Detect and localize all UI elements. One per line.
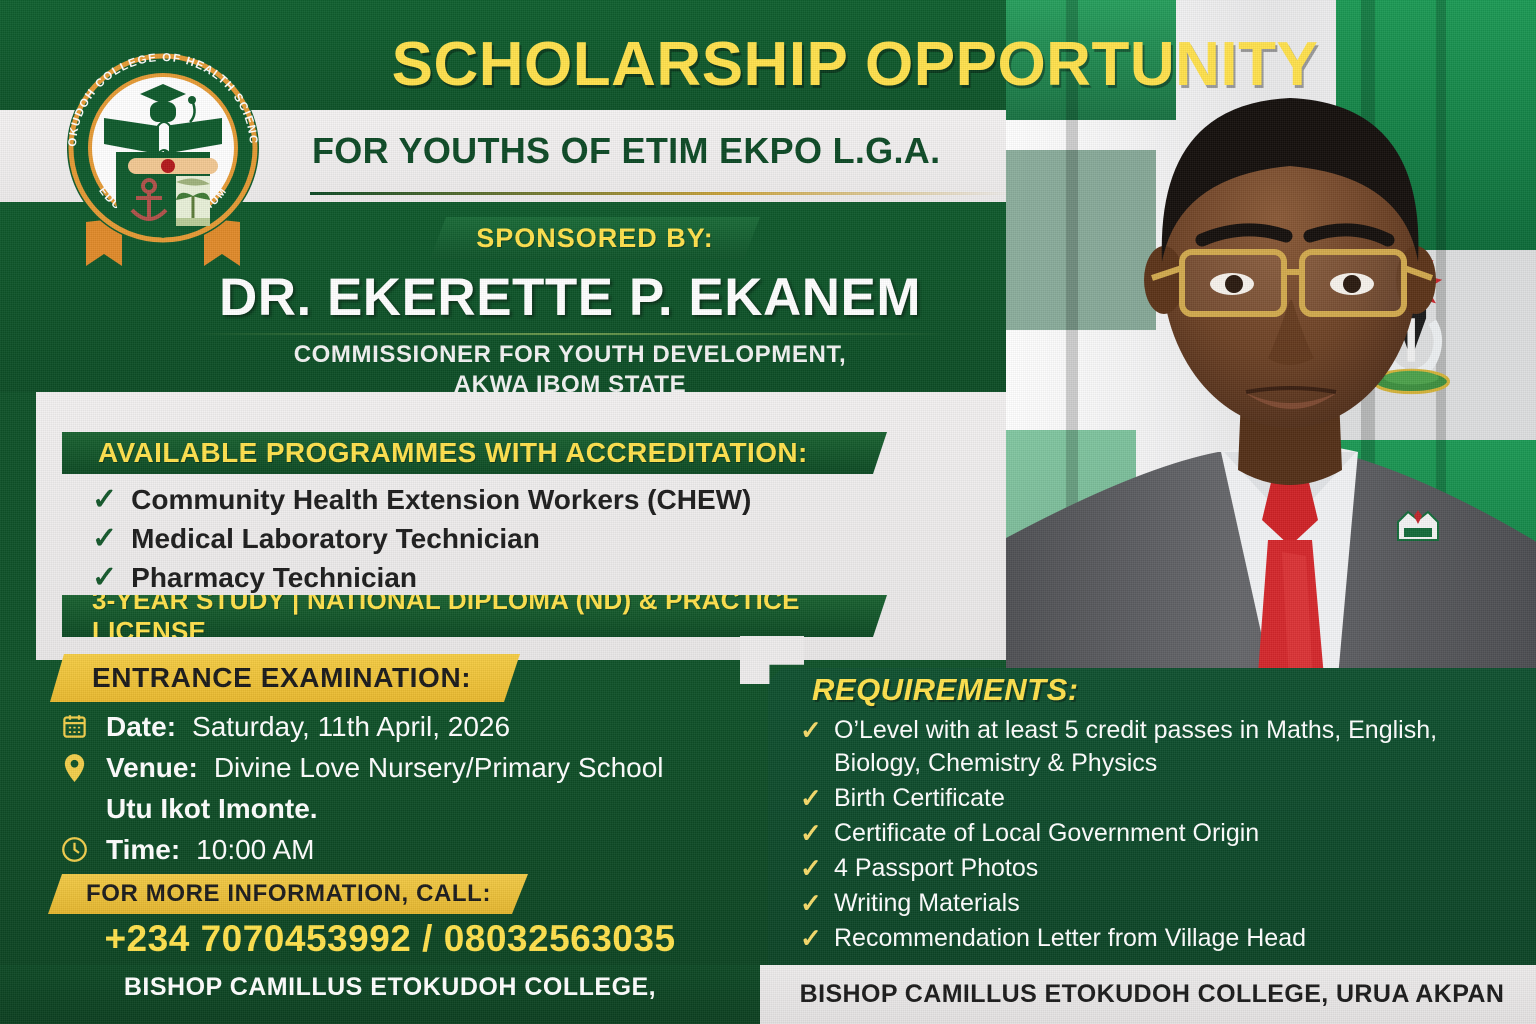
sponsor-role: COMMISSIONER FOR YOUTH DEVELOPMENT, AKWA… <box>110 340 1030 400</box>
programmes-heading: AVAILABLE PROGRAMMES WITH ACCREDITATION: <box>62 432 887 474</box>
requirement-label: Birth Certificate <box>834 782 1005 815</box>
exam-time-value: 10:00 AM <box>196 829 314 870</box>
exam-date-row: Date: Saturday, 11th April, 2026 <box>58 706 778 747</box>
college-name-right: BISHOP CAMILLUS ETOKUDOH COLLEGE, URUA A… <box>768 965 1536 1024</box>
list-item: ✓ O’Level with at least 5 credit passes … <box>800 714 1520 780</box>
list-item: ✓ Pharmacy Technician <box>92 558 892 597</box>
exam-venue-row: Venue: Divine Love Nursery/Primary Schoo… <box>58 747 778 788</box>
programmes-footer: 3-YEAR STUDY | NATIONAL DIPLOMA (ND) & P… <box>62 595 887 637</box>
list-item: ✓ 4 Passport Photos <box>800 852 1520 885</box>
exam-date-label: Date: <box>106 706 176 747</box>
check-icon: ✓ <box>800 782 822 815</box>
requirements-heading: REQUIREMENTS: <box>812 672 1079 708</box>
list-item: ✓ Writing Materials <box>800 887 1520 920</box>
exam-venue-value-line2: Utu Ikot Imonte. <box>58 788 778 829</box>
check-icon: ✓ <box>800 922 822 955</box>
sponsored-by-label: SPONSORED BY: <box>430 217 760 259</box>
location-pin-icon <box>58 747 90 788</box>
programme-label: Pharmacy Technician <box>131 562 417 594</box>
entrance-exam-heading: ENTRANCE EXAMINATION: <box>50 654 520 702</box>
check-icon: ✓ <box>92 524 117 554</box>
requirement-label: O’Level with at least 5 credit passes in… <box>834 714 1520 780</box>
exam-date-value: Saturday, 11th April, 2026 <box>192 706 510 747</box>
list-item: ✓ Birth Certificate <box>800 782 1520 815</box>
exam-venue-label: Venue: <box>106 747 198 788</box>
exam-venue-value: Divine Love Nursery/Primary School <box>214 747 664 788</box>
sponsor-role-line2: AKWA IBOM STATE <box>110 370 1030 400</box>
list-item: ✓ Recommendation Letter from Village Hea… <box>800 922 1520 955</box>
scholarship-poster: BISHOP CAMILLUS ETOKUDOH COLLEGE OF HEAL… <box>0 0 1536 1024</box>
contact-phone-numbers: +234 7070453992 / 08032563035 <box>40 918 740 960</box>
exam-time-row: Time: 10:00 AM <box>58 829 778 870</box>
requirement-label: 4 Passport Photos <box>834 852 1038 885</box>
requirement-label: Writing Materials <box>834 887 1020 920</box>
check-icon: ✓ <box>800 714 822 747</box>
list-item: ✓ Certificate of Local Government Origin <box>800 817 1520 850</box>
programmes-list: ✓ Community Health Extension Workers (CH… <box>92 480 892 597</box>
requirement-label: Recommendation Letter from Village Head <box>834 922 1306 955</box>
requirements-list: ✓ O’Level with at least 5 credit passes … <box>800 714 1520 957</box>
exam-time-label: Time: <box>106 829 180 870</box>
check-icon: ✓ <box>800 817 822 850</box>
programme-label: Community Health Extension Workers (CHEW… <box>131 484 751 516</box>
check-icon: ✓ <box>800 887 822 920</box>
contact-heading: FOR MORE INFORMATION, CALL: <box>48 874 528 914</box>
page-title: SCHOLARSHIP OPPORTUNITY <box>300 22 1410 108</box>
check-icon: ✓ <box>92 563 117 593</box>
list-item: ✓ Community Health Extension Workers (CH… <box>92 480 892 519</box>
calendar-icon <box>58 706 90 747</box>
sponsor-role-line1: COMMISSIONER FOR YOUTH DEVELOPMENT, <box>110 340 1030 370</box>
programme-label: Medical Laboratory Technician <box>131 523 540 555</box>
college-logo: BISHOP CAMILLUS ETOKUDOH COLLEGE OF HEAL… <box>52 22 274 272</box>
sponsor-divider <box>190 333 950 335</box>
sponsor-name: DR. EKERETTE P. EKANEM <box>110 268 1030 328</box>
clock-icon <box>58 829 90 870</box>
list-item: ✓ Medical Laboratory Technician <box>92 519 892 558</box>
left-green-edge <box>0 392 36 660</box>
college-name-left: BISHOP CAMILLUS ETOKUDOH COLLEGE, <box>40 965 740 1009</box>
requirement-label: Certificate of Local Government Origin <box>834 817 1259 850</box>
check-icon: ✓ <box>800 852 822 885</box>
page-subtitle: FOR YOUTHS OF ETIM EKPO L.G.A. <box>312 125 1032 177</box>
entrance-exam-details: Date: Saturday, 11th April, 2026 Venue: … <box>58 706 778 870</box>
check-icon: ✓ <box>92 485 117 515</box>
header-divider <box>310 192 1010 195</box>
